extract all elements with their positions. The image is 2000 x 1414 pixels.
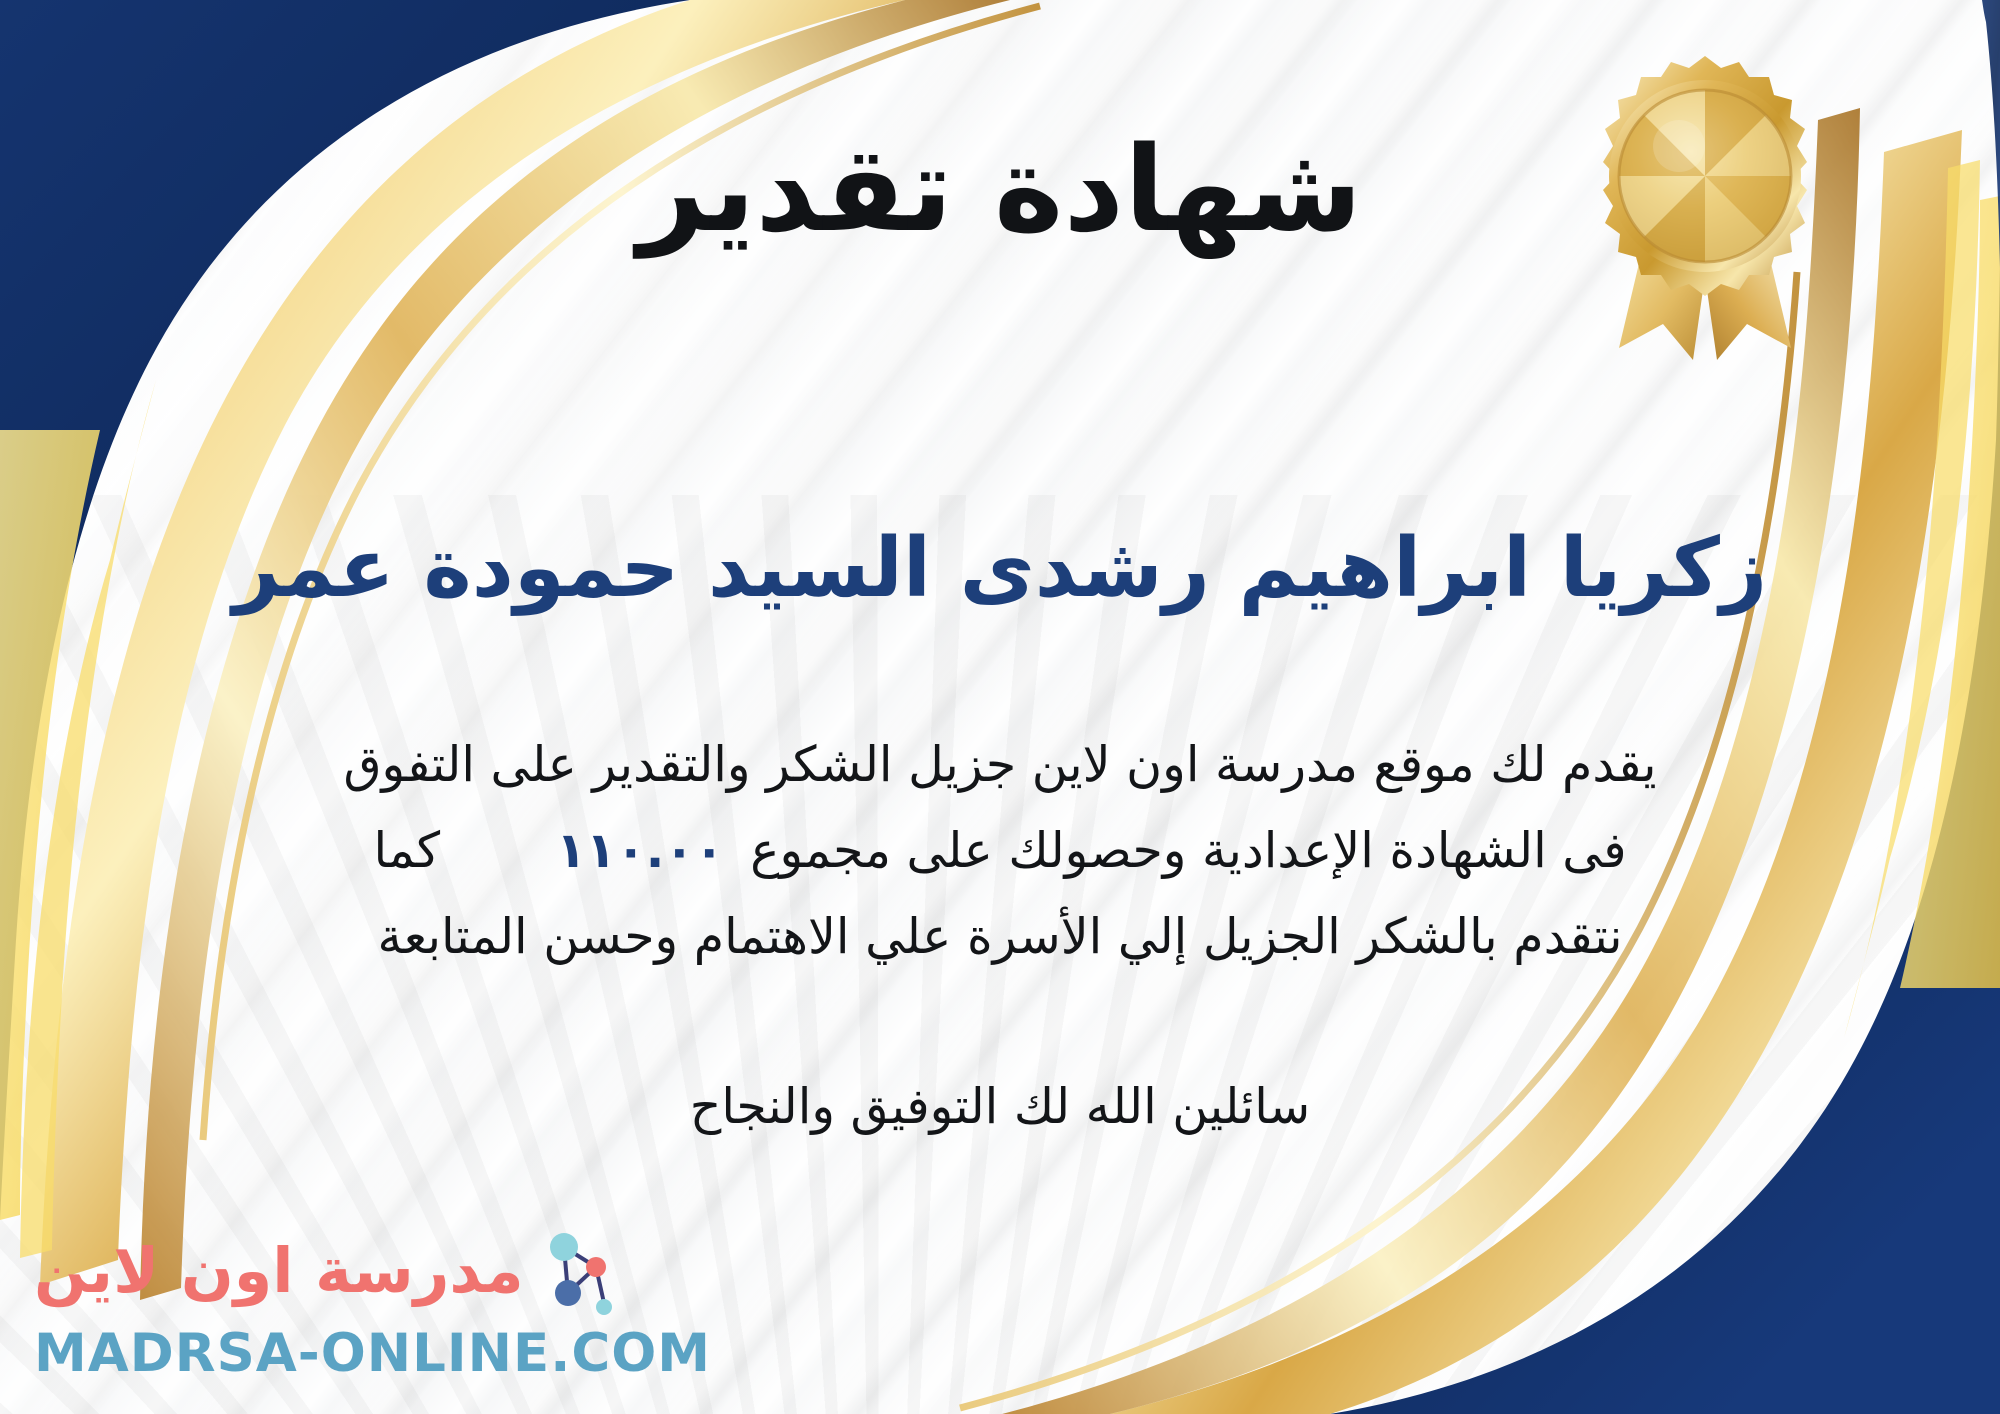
brand-domain[interactable]: MADRSA-ONLINE.COM (34, 1327, 711, 1380)
body-line-2: فى الشهادة الإعدادية وحصولك على مجموع١١٠… (160, 808, 1840, 894)
brand-name-arabic: مدرسة اون لاين (34, 1240, 524, 1302)
recipient-name: زكريا ابراهيم رشدى السيد حمودة عمر (0, 520, 2000, 618)
body-line-2-prefix: فى الشهادة الإعدادية وحصولك على مجموع (750, 822, 1626, 879)
page-title: شهادة تقدير (0, 128, 2000, 252)
grade-total-value: ١١٠.٠٠ (530, 822, 750, 879)
closing-line: سائلين الله لك التوفيق والنجاح (0, 1078, 2000, 1135)
certificate-content: شهادة تقدير زكريا ابراهيم رشدى السيد حمو… (0, 0, 2000, 1414)
body-line-1: يقدم لك موقع مدرسة اون لاين جزيل الشكر و… (160, 722, 1840, 808)
body-line-3: نتقدم بالشكر الجزيل إلي الأسرة علي الاهت… (160, 894, 1840, 980)
certificate-page: شهادة تقدير زكريا ابراهيم رشدى السيد حمو… (0, 0, 2000, 1414)
brand-logo-row: مدرسة اون لاين (34, 1223, 711, 1319)
network-nodes-icon (538, 1223, 612, 1319)
body-line-2-suffix: كما (373, 822, 440, 879)
certificate-body: يقدم لك موقع مدرسة اون لاين جزيل الشكر و… (160, 722, 1840, 980)
brand-logo[interactable]: مدرسة اون لاين MADRSA-ONLINE.COM (34, 1223, 711, 1380)
